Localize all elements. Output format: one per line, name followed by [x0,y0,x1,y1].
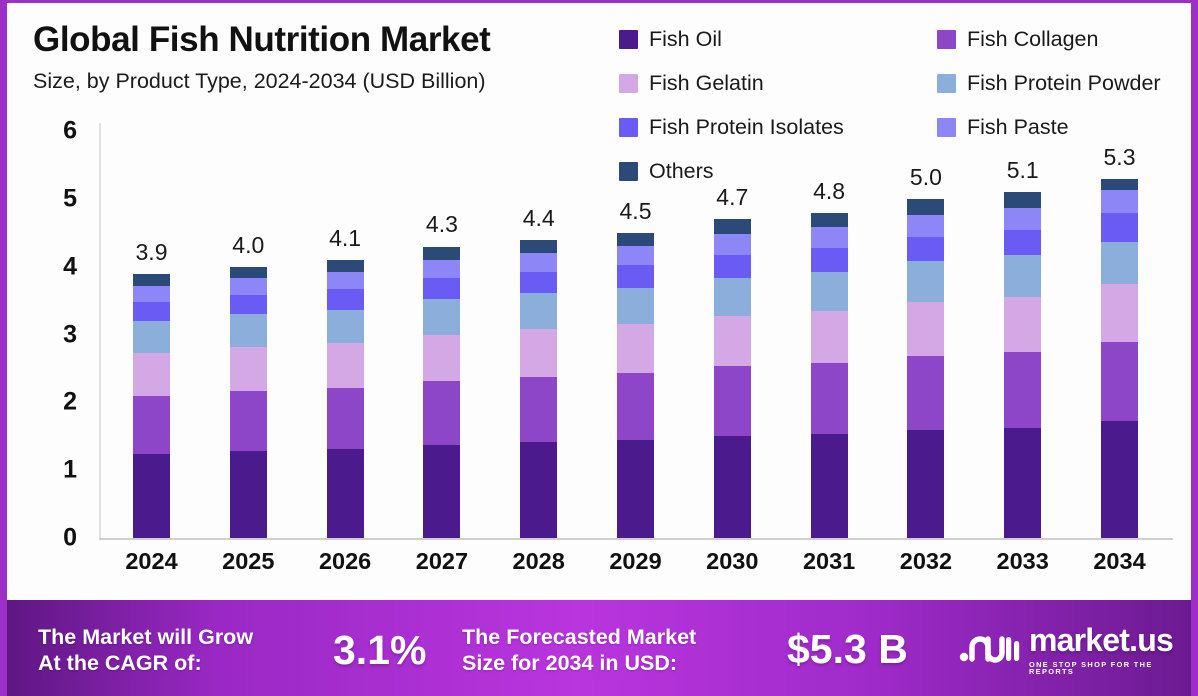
bar-segment[interactable] [423,335,460,382]
bar-segment[interactable] [327,289,364,309]
bar-segment[interactable] [1101,190,1138,213]
bar-segment[interactable] [423,247,460,261]
bar-segment[interactable] [617,265,654,287]
bar-segment[interactable] [1101,179,1138,190]
bar-segment[interactable] [617,246,654,266]
forecast-value: $5.3 B [787,629,908,670]
infographic-root: Global Fish Nutrition Market Size, by Pr… [0,0,1198,696]
bar-group[interactable]: 5.02032 [907,3,944,603]
bar-group[interactable]: 4.42028 [520,3,557,603]
bar-segment[interactable] [811,434,848,538]
bar-segment[interactable] [327,272,364,290]
bar-segment[interactable] [423,299,460,334]
bar-segment[interactable] [907,215,944,237]
bar-segment[interactable] [907,199,944,215]
bar-group[interactable]: 5.32034 [1101,3,1138,603]
bar-segment[interactable] [811,227,848,248]
bar-segment[interactable] [327,449,364,538]
bar-segment[interactable] [520,377,557,442]
bar-stack [811,213,848,538]
bar-stack [423,247,460,538]
bar-group[interactable]: 4.72030 [714,3,751,603]
bar-stack [230,267,267,538]
bar-segment[interactable] [907,302,944,356]
bar-segment[interactable] [714,234,751,254]
brand-tagline: ONE STOP SHOP FOR THE REPORTS [1029,661,1198,676]
bar-segment[interactable] [1004,230,1041,255]
bar-segment[interactable] [520,442,557,538]
bar-segment[interactable] [811,248,848,272]
bar-segment[interactable] [327,260,364,272]
bar-segment[interactable] [714,436,751,538]
bar-segment[interactable] [423,381,460,445]
bar-value-label: 5.1 [1007,159,1039,182]
x-axis-tick: 2029 [609,548,661,575]
market-us-logo-icon [958,627,1020,672]
bar-segment[interactable] [617,233,654,246]
bar-segment[interactable] [907,356,944,430]
x-axis-tick: 2030 [706,548,758,575]
bar-segment[interactable] [714,316,751,367]
bar-value-label: 4.0 [232,234,264,257]
bar-segment[interactable] [327,388,364,450]
bar-segment[interactable] [520,329,557,377]
bar-segment[interactable] [133,274,170,286]
x-axis-tick: 2031 [803,548,855,575]
bar-segment[interactable] [907,430,944,538]
forecast-caption: The Forecasted Market Size for 2034 in U… [462,624,696,676]
bar-segment[interactable] [230,391,267,451]
bar-segment[interactable] [423,445,460,538]
x-axis-tick: 2034 [1093,548,1145,575]
x-axis-tick: 2032 [900,548,952,575]
bar-segment[interactable] [133,321,170,353]
x-axis-tick: 2027 [416,548,468,575]
bar-segment[interactable] [907,261,944,302]
bar-segment[interactable] [811,311,848,363]
bar-stack [617,233,654,538]
bar-segment[interactable] [230,451,267,538]
bar-segment[interactable] [520,272,557,294]
x-axis-tick: 2024 [125,548,177,575]
bar-segment[interactable] [133,353,170,396]
bar-segment[interactable] [230,295,267,315]
bar-segment[interactable] [520,253,557,272]
bar-stack [520,240,557,538]
x-axis-tick: 2028 [513,548,565,575]
bar-segment[interactable] [327,343,364,388]
bar-stack [1004,192,1041,538]
bar-value-label: 4.8 [813,180,845,203]
bar-segment[interactable] [230,278,267,295]
bar-stack [907,199,944,538]
bar-segment[interactable] [714,366,751,436]
brand-logo[interactable]: market.us ONE STOP SHOP FOR THE REPORTS [958,624,1198,676]
bar-value-label: 4.7 [716,186,748,209]
bar-value-label: 3.9 [136,241,168,264]
bar-value-label: 4.4 [523,207,555,230]
bar-segment[interactable] [230,347,267,391]
bar-group[interactable]: 4.02025 [230,3,267,603]
bar-value-label: 5.0 [910,166,942,189]
bar-segment[interactable] [423,260,460,278]
x-axis-tick: 2026 [319,548,371,575]
bar-stack [133,274,170,538]
bar-group[interactable]: 3.92024 [133,3,170,603]
bar-segment[interactable] [714,219,751,234]
bar-segment[interactable] [133,302,170,321]
bar-segment[interactable] [811,213,848,227]
bar-group[interactable]: 5.12033 [1004,3,1041,603]
bar-segment[interactable] [617,288,654,325]
bar-group[interactable]: 4.52029 [617,3,654,603]
bar-segment[interactable] [811,363,848,434]
bar-segment[interactable] [1101,342,1138,421]
bars-layer: 3.920244.020254.120264.320274.420284.520… [7,3,1198,603]
bar-segment[interactable] [811,272,848,311]
bar-segment[interactable] [1004,208,1041,230]
bar-segment[interactable] [617,373,654,440]
bar-segment[interactable] [1101,213,1138,242]
plot-area: 0123456 3.920244.020254.120264.320274.42… [7,3,1198,603]
bar-segment[interactable] [327,310,364,343]
bar-segment[interactable] [714,255,751,278]
bar-segment[interactable] [1101,242,1138,285]
brand-name: market.us [1029,624,1198,656]
bar-segment[interactable] [617,324,654,373]
bar-value-label: 4.3 [426,213,458,236]
bar-segment[interactable] [133,396,170,454]
bar-value-label: 4.5 [620,200,652,223]
x-axis-tick: 2025 [222,548,274,575]
bar-segment[interactable] [423,278,460,299]
bar-segment[interactable] [520,240,557,253]
cagr-value: 3.1% [333,630,426,671]
bar-stack [714,219,751,538]
bar-segment[interactable] [1004,428,1041,538]
bar-segment[interactable] [1004,255,1041,296]
bar-segment[interactable] [520,293,557,329]
bar-stack [327,260,364,538]
bar-stack [1101,179,1138,538]
brand-text: market.us ONE STOP SHOP FOR THE REPORTS [1029,624,1198,676]
bar-segment[interactable] [1101,421,1138,538]
bar-segment[interactable] [133,454,170,538]
bar-segment[interactable] [1101,284,1138,342]
bar-segment[interactable] [230,314,267,347]
bar-group[interactable]: 4.82031 [811,3,848,603]
bar-segment[interactable] [1004,297,1041,353]
x-axis-tick: 2033 [997,548,1049,575]
bar-value-label: 5.3 [1104,146,1136,169]
bar-segment[interactable] [714,278,751,316]
bar-segment[interactable] [133,286,170,302]
bar-segment[interactable] [1004,192,1041,208]
bar-group[interactable]: 4.12026 [327,3,364,603]
cagr-caption: The Market will Grow At the CAGR of: [38,624,253,676]
bar-value-label: 4.1 [329,227,361,250]
footer-banner: The Market will Grow At the CAGR of: 3.1… [0,600,1198,696]
bar-segment[interactable] [907,237,944,261]
bar-segment[interactable] [1004,352,1041,428]
bar-group[interactable]: 4.32027 [423,3,460,603]
bar-segment[interactable] [617,440,654,538]
bar-segment[interactable] [230,267,267,278]
